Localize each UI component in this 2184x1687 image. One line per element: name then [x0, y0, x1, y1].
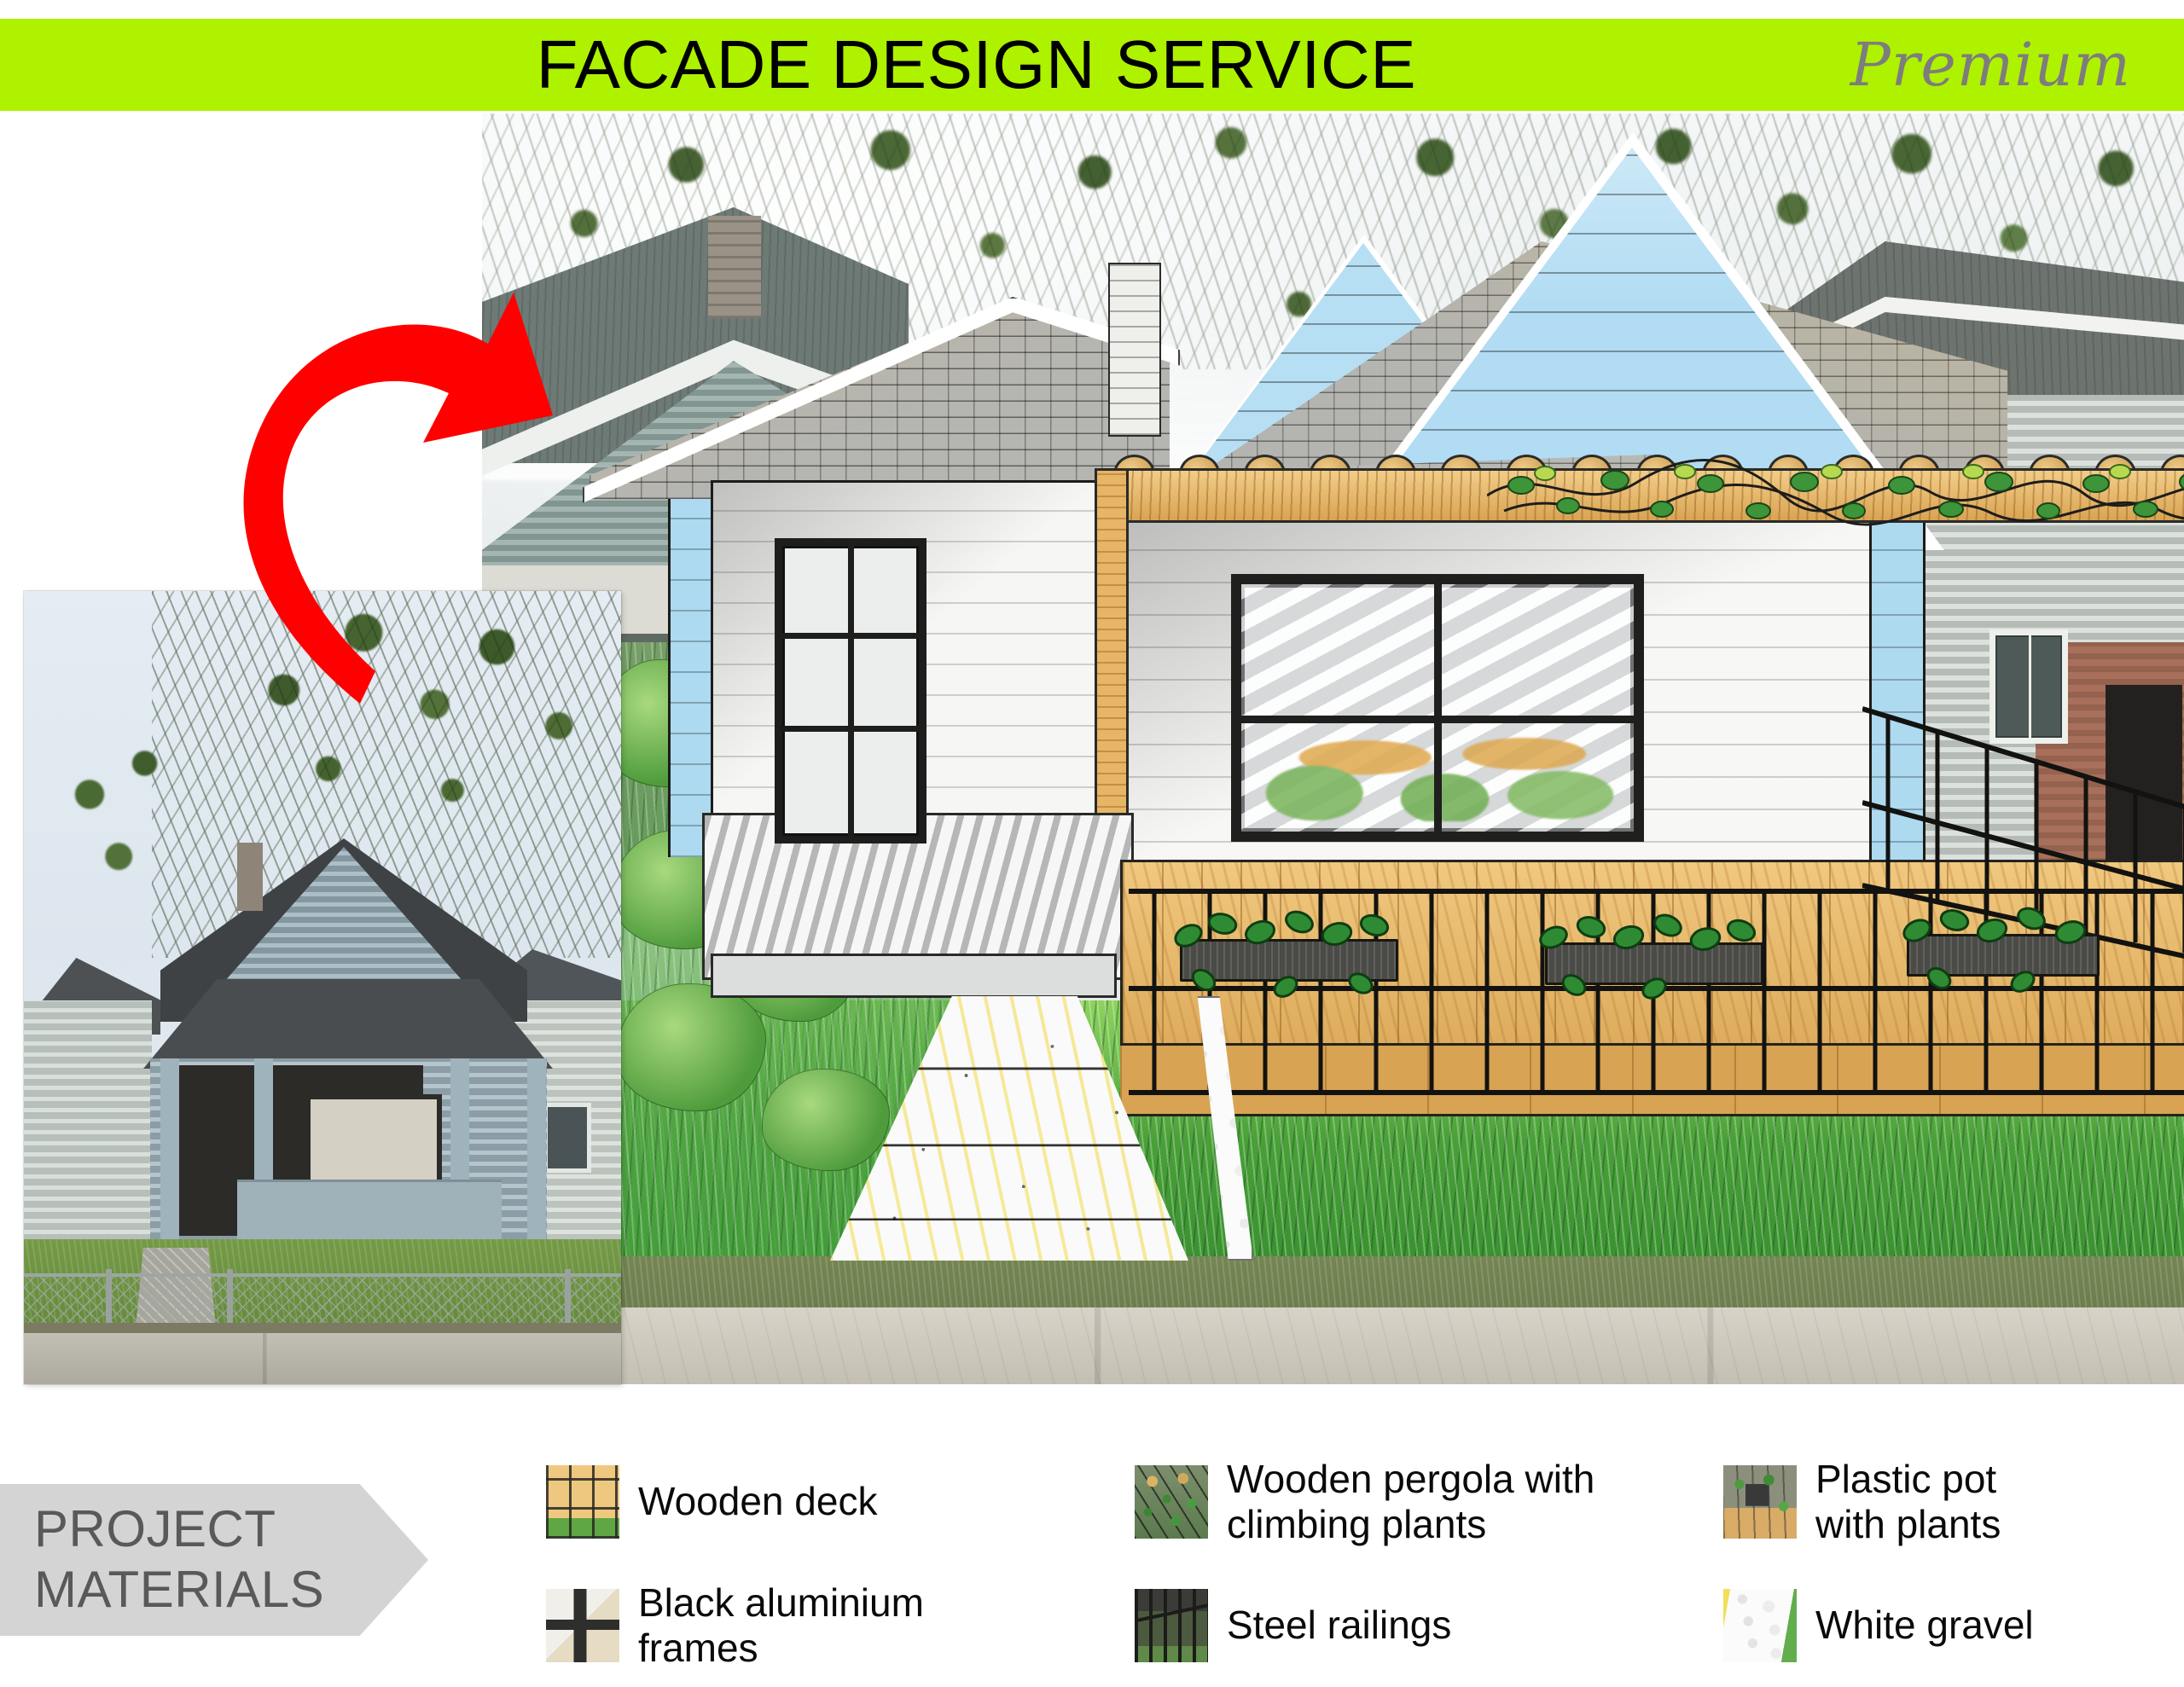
window-mullion-horizontal — [1241, 716, 1634, 723]
pergola-beam — [1113, 468, 2184, 523]
shrub — [617, 983, 766, 1111]
facade-sketch-overlay — [583, 113, 2184, 1307]
materials-tag-line-2: MATERIALS — [34, 1560, 428, 1620]
white-gravel-swatch-icon — [1723, 1589, 1797, 1662]
legend-label: Wooden deck — [638, 1479, 877, 1523]
steel-railings-swatch-icon — [1135, 1589, 1208, 1662]
door-mullion-vertical — [848, 546, 854, 836]
black-aluminium-frames-swatch-icon — [546, 1589, 619, 1662]
plastic-pot-swatch-icon — [1723, 1465, 1797, 1539]
before-right-neighbor-window — [543, 1103, 591, 1173]
legend-item-white-gravel[interactable]: White gravel — [1723, 1563, 2167, 1687]
planter-foliage-icon — [1159, 898, 1415, 1009]
street-sidewalk — [482, 1307, 2184, 1384]
before-porch-column — [527, 1058, 546, 1255]
legend-label: Plastic pot with plants — [1815, 1457, 2001, 1546]
before-broken-window — [305, 1094, 442, 1188]
legend-item-plastic-pot[interactable]: Plastic pot with plants — [1723, 1440, 2167, 1563]
materials-tag-line-1: PROJECT — [34, 1499, 428, 1560]
legend-item-wooden-pergola[interactable]: Wooden pergola with climbing plants — [1135, 1440, 1723, 1563]
main-rendering — [482, 113, 2184, 1384]
materials-legend: Wooden deck Wooden pergola with climbing… — [546, 1440, 2167, 1687]
door-mullion-lower — [782, 726, 919, 732]
tier-badge: Premium — [1850, 35, 2184, 95]
page-title: FACADE DESIGN SERVICE — [0, 31, 1850, 99]
legend-label: White gravel — [1815, 1603, 2034, 1647]
door-handle — [779, 726, 801, 731]
before-photo-inset — [24, 591, 621, 1384]
picture-window — [1231, 574, 1644, 842]
planter-foliage-icon — [1888, 893, 2118, 1004]
legend-label: Wooden pergola with climbing plants — [1227, 1457, 1594, 1546]
legend-label: Steel railings — [1227, 1603, 1451, 1647]
porch-step — [711, 954, 1117, 998]
planter-foliage-icon — [1525, 901, 1780, 1012]
legend-item-black-aluminium-frames[interactable]: Black aluminium frames — [546, 1563, 1135, 1687]
before-fence-top-rail — [24, 1273, 621, 1277]
window-mullion-vertical — [1434, 584, 1442, 832]
before-left-neighbor — [24, 1000, 152, 1256]
header-banner: FACADE DESIGN SERVICE Premium — [0, 19, 2184, 111]
before-sidewalk — [24, 1333, 621, 1384]
before-porch-column — [160, 1058, 179, 1255]
before-chimney — [237, 843, 263, 911]
wooden-deck-swatch-icon — [546, 1465, 619, 1539]
wooden-pergola-swatch-icon — [1135, 1465, 1208, 1539]
pergola-post-left — [1095, 468, 1129, 866]
shrub — [762, 1069, 890, 1171]
legend-item-wooden-deck[interactable]: Wooden deck — [546, 1440, 1135, 1563]
door-mullion-upper — [782, 633, 919, 639]
poster-canvas: FACADE DESIGN SERVICE Premium PROJECT MA… — [0, 0, 2184, 1687]
project-materials-tag: PROJECT MATERIALS — [0, 1484, 428, 1636]
front-door — [775, 538, 926, 843]
chimney — [1108, 263, 1161, 437]
legend-item-steel-railings[interactable]: Steel railings — [1135, 1563, 1723, 1687]
legend-label: Black aluminium frames — [638, 1580, 924, 1670]
